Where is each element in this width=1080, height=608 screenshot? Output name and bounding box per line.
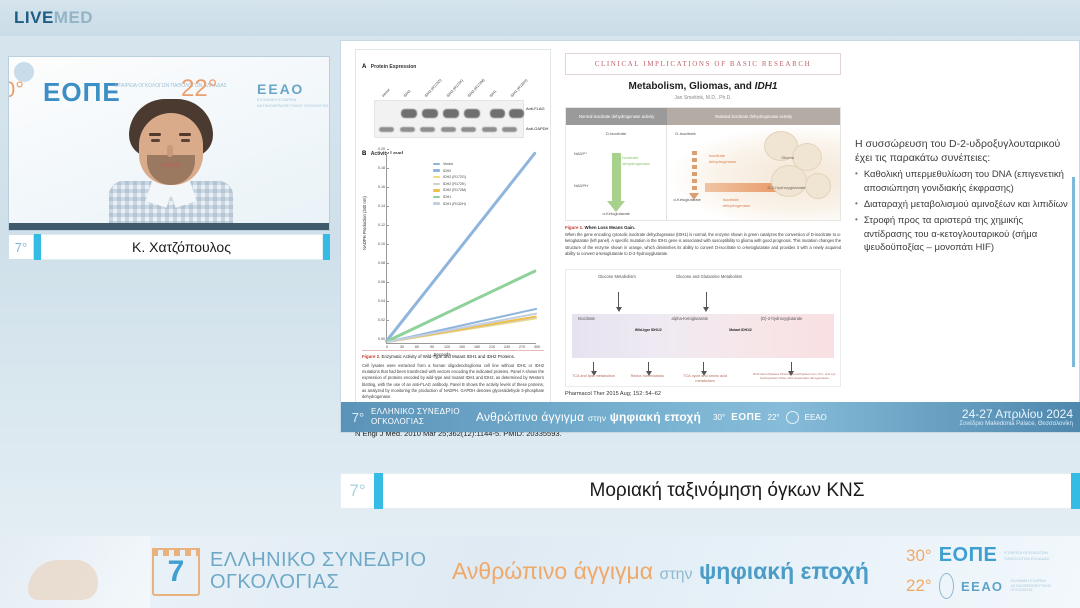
chart-x-tick: 90 [430, 343, 434, 349]
bullet-dot-icon: • [855, 168, 858, 195]
banner-eeao-row: 22° ΕΕΑΟ ΕΛΛΗΝΙΚΗ ΕΤΑΙΡΕΙΑ ΑΚΤΙΝΟΘΕΡΑΠΕΥ… [906, 573, 1066, 599]
speaker-video-panel[interactable]: 0° ΕΟΠΕ ΕΤΑΙΡΕΙΑ ΟΓΚΟΛΟΓΩΝ ΠΑΘΟΛΟΓΩΝ ΕΛΛ… [8, 56, 330, 231]
footer-deg-30: 30° [713, 413, 725, 422]
bullet-dot-icon: • [855, 214, 858, 254]
banner-photo [0, 536, 150, 608]
footer-venue: Συνέδριο Makedonia Palace, Θεσσαλονίκη [959, 421, 1073, 427]
normal-enzyme-label: Isocitrate dehydrogenase [622, 155, 666, 166]
legend-swatch [433, 169, 440, 172]
pathway-enzyme-wildtype: Wild-type IDH1/2 [635, 328, 662, 332]
chart-y-tick: 0.20 [378, 147, 387, 151]
banner-congress-logo: 7 ΕΛΛΗΝΙΚΟ ΣΥΝΕΔΡΙΟ ΟΓΚΟΛΟΓΙΑΣ [152, 548, 426, 596]
chart-legend-item: Vector [433, 162, 466, 166]
brand-live-text: LIVE [14, 8, 54, 27]
greek-bullet-item: •Καθολική υπερμεθυλίωση του DNA (επιγενε… [855, 168, 1069, 195]
pathway-bottom-tca-amino: TCA cycle and amino acid metabolism [681, 374, 729, 384]
top-bar: LIVEMED [0, 0, 1080, 36]
blot-lane-label: IDH2 (R172M) [467, 78, 485, 98]
panel-a-letter: A [362, 64, 366, 70]
nejm-article-panel: CLINICAL IMPLICATIONS OF BASIC RESEARCH … [559, 49, 847, 427]
western-blot-gapdh [374, 124, 524, 136]
figure2-caption: Figure 2. Enzymatic Activity of Wild-Typ… [362, 350, 544, 401]
greek-bullet-text: Στροφή προς τα αριστερά της χημικής αντί… [864, 214, 1069, 254]
pathway-bottom-redox: Redox homeostasis [626, 374, 668, 379]
footer-dates: 24-27 Απριλίου 2024 [959, 407, 1073, 421]
pathway-down-arrow-5-icon [703, 362, 704, 372]
banner-deg-30: 30° [906, 546, 932, 566]
brand-med-text: MED [54, 8, 93, 27]
pathway-bottom-tca-lipid: TCA and lipid metabolism [571, 374, 615, 379]
chart-y-tick: 0.06 [378, 280, 387, 284]
footer-congress-badge-icon: 7° [345, 410, 371, 425]
chart-x-tick: 270 [519, 343, 525, 349]
blot-lane-label: IDH2 (R172K) [446, 79, 464, 98]
slide-title-bar: 7° Μοριακή ταξινόμηση όγκων ΚΝΣ [340, 473, 1080, 509]
chart-y-tick: 0.04 [378, 299, 387, 303]
figure2-label: Figure 2. [362, 354, 380, 359]
chart-x-tick: 180 [474, 343, 480, 349]
speaker-eye-left [151, 139, 160, 142]
figure1-diagram: Normal isocitrate dehydrogenase activity… [565, 107, 841, 221]
chart-y-tick: 0.08 [378, 261, 387, 265]
speaker-brow-left [149, 133, 161, 136]
banner-deg-22: 22° [906, 576, 932, 596]
blot-lane-label: IDH1 [489, 89, 497, 98]
chart-x-tick: 150 [459, 343, 465, 349]
gapdh-band [441, 127, 456, 132]
banner-badge-number: 7 [168, 555, 185, 589]
banner-congress-line1: ΕΛΛΗΝΙΚΟ ΣΥΝΕΔΡΙΟ [210, 550, 426, 572]
castle-logo-icon: 7 [152, 548, 200, 596]
chart-y-tick: 0.16 [378, 185, 387, 189]
chart-x-tick: 300 [534, 343, 540, 349]
banner-eeao-logo: ΕΕΑΟ [961, 579, 1004, 594]
speaker-accent-right [323, 234, 330, 260]
chart-legend-item: IDH2 [433, 169, 466, 173]
greek-bullet-list: •Καθολική υπερμεθυλίωση του DNA (επιγενε… [855, 168, 1069, 254]
chart-x-tick: 120 [444, 343, 450, 349]
green-reaction-arrow-icon [612, 153, 621, 201]
pathway-enzyme-mutant: Mutant IDH1/2 [729, 328, 752, 332]
legend-label: Vector [443, 162, 453, 166]
normal-ketoglutarate-label: α-Ketoglutarate [602, 211, 629, 216]
footer-tagline-c: ψηφιακή εποχή [610, 410, 701, 424]
chart-legend: VectorIDH2IDH2 (R172G)IDH2 (R172K)IDH2 (… [433, 162, 466, 208]
panel-b-letter: B [362, 151, 366, 157]
blot-lane-label: IDH2 [403, 89, 411, 98]
figure1-header-normal: Normal isocitrate dehydrogenase activity [566, 108, 667, 125]
glioma-blob-3 [771, 165, 807, 197]
figure1-normal-pane: D-Isocitrate NADP⁺ NADPH Isocitrate dehy… [566, 125, 667, 220]
footer-deg-22: 22° [768, 413, 780, 422]
speaker-mouth [161, 163, 181, 167]
legend-swatch [433, 183, 440, 186]
mutated-isocitrate-label: D-Isocitrate [675, 131, 695, 136]
anti-gapdh-label: Anti-GAPDH [526, 126, 548, 131]
blot-band [464, 109, 480, 118]
bullet-dot-icon: • [855, 198, 858, 211]
glioma-blob-4 [805, 173, 831, 199]
figure1-caption: Figure 1. When Loss Means Gain. When the… [565, 225, 841, 257]
footer-date-venue: 24-27 Απριλίου 2024 Συνέδριο Makedonia P… [959, 407, 1073, 427]
figure1-caption-body: When the gene encoding cytosolic isocitr… [565, 232, 841, 257]
chart-x-tick: 0 [386, 343, 388, 349]
blot-band [490, 109, 505, 118]
legend-swatch [433, 189, 440, 192]
speaker-accent-left [34, 234, 41, 260]
backdrop-eeao-subtitle: ΕΛΛΗΝΙΚΗ ΕΤΑΙΡΕΙΑ ΑΚΤΙΝΟΘΕΡΑΠΕΥΤΙΚΗΣ ΟΓΚ… [257, 97, 329, 108]
pathway-molecule-band: Isocitrate alpha-Ketoglutarate (D)-2-hyd… [572, 314, 834, 358]
footer-congress-line2: ΟΓΚΟΛΟΓΙΑΣ [371, 417, 460, 427]
gapdh-band [482, 127, 497, 132]
activity-line-chart: VectorIDH2IDH2 (R172G)IDH2 (R172K)IDH2 (… [386, 154, 536, 344]
pathway-top-glucose-glutamine: Glucose and Glutamine Metabolism [670, 274, 748, 279]
speaker-figure [101, 99, 241, 231]
chart-x-tick: 210 [489, 343, 495, 349]
greek-lead-text: Η συσσώρευση του D-2-υδροξυγλουταρικού έ… [855, 137, 1069, 165]
gapdh-band [400, 127, 415, 132]
nejm-figure-left: A Protein Expression VectorIDH2IDH2 (R17… [355, 49, 551, 427]
banner-eeao-subtitle: ΕΛΛΗΝΙΚΗ ΕΤΑΙΡΕΙΑ ΑΚΤΙΝΟΘΕΡΑΠΕΥΤΙΚΗΣ ΟΓΚ… [1011, 579, 1067, 593]
article-title-main: Metabolism, Gliomas, and [629, 81, 755, 92]
figure1-label: Figure 1. [565, 225, 583, 230]
slide-footer-bar: 7° ΕΛΛΗΝΙΚΟ ΣΥΝΕΔΡΙΟ ΟΓΚΟΛΟΓΙΑΣ Ανθρώπιν… [341, 402, 1080, 432]
nadp-label: NADP⁺ [574, 151, 587, 156]
article-title: Metabolism, Gliomas, and IDH1 [559, 81, 847, 92]
gapdh-band [461, 127, 476, 132]
chart-series-line [386, 269, 537, 343]
normal-isocitrate-label: D-Isocitrate [606, 131, 626, 136]
pharmacol-citation: Pharmacol Ther 2015 Aug; 152: 54–62 [565, 391, 661, 397]
greek-bullet-item: •Στροφή προς τα αριστερά της χημικής αντ… [855, 214, 1069, 254]
legend-swatch [433, 202, 440, 205]
chart-x-tick: 30 [400, 343, 404, 349]
speaker-eye-right [181, 139, 190, 142]
chart-legend-item: IDH2 (R172G) [433, 175, 466, 179]
legend-label: IDH2 (R172K) [443, 182, 466, 186]
banner-congress-line2: ΟΓΚΟΛΟΓΙΑΣ [210, 572, 426, 594]
figure2-caption-title: Figure 2. Enzymatic Activity of Wild-Typ… [362, 354, 544, 361]
banner-crab-icon [939, 573, 954, 599]
speaker-name-bar: 7° Κ. Χατζόπουλος [8, 234, 330, 260]
footer-congress-name: ΕΛΛΗΝΙΚΟ ΣΥΝΕΔΡΙΟ ΟΓΚΟΛΟΓΙΑΣ [371, 407, 460, 427]
article-author: Jan Smeitink, M.D., Ph.D. [559, 95, 847, 101]
blot-lane-label: IDH1 (R132H) [510, 78, 528, 98]
chart-y-tick: 0.02 [378, 318, 387, 322]
legend-swatch [433, 163, 440, 166]
footer-eope-logo: ΕΟΠΕ [731, 412, 761, 423]
banner-tagline-c: ψηφιακή εποχή [699, 558, 869, 584]
banner-eope-row: 30° ΕΟΠΕ ΕΤΑΙΡΕΙΑ ΟΓΚΟΛΟΓΩΝ ΠΑΘΟΛΟΓΩΝ ΕΛ… [906, 544, 1066, 567]
figure1-caption-title: Figure 1. When Loss Means Gain. [565, 225, 841, 230]
article-title-gene: IDH1 [755, 81, 778, 92]
chart-y-axis-label: NADPH Production (340 nm) [362, 196, 367, 250]
hydroxyglutarate-label: D-2-Hydroxyglutarate [767, 185, 805, 190]
backdrop-eeao-logo: ΕΕΑΟ [257, 81, 304, 97]
title-congress-badge-icon: 7° [340, 473, 374, 509]
section-header-box: CLINICAL IMPLICATIONS OF BASIC RESEARCH [565, 53, 841, 75]
mutated-ketoglutarate-label: α-Ketoglutarate [673, 197, 700, 202]
speaker-nose [167, 145, 173, 157]
title-accent-left [374, 473, 383, 509]
blot-band [443, 109, 459, 118]
banner-tagline-a: Ανθρώπινο άγγιγμα [452, 558, 653, 584]
orange-dashed-arrow-icon [692, 151, 697, 193]
pathway-down-arrow-4-icon [648, 362, 649, 372]
banner-congress-name: ΕΛΛΗΝΙΚΟ ΣΥΝΕΔΡΙΟ ΟΓΚΟΛΟΓΙΑΣ [210, 550, 426, 593]
banner-tagline-b: στην [659, 566, 692, 583]
pathway-isocitrate: Isocitrate [578, 316, 595, 321]
greek-bullet-item: •Διαταραχή μεταβολισμού αμινοξέων και λι… [855, 198, 1069, 211]
greek-bullet-text: Καθολική υπερμεθυλίωση του DNA (επιγενετ… [864, 168, 1069, 195]
gapdh-band [502, 127, 517, 132]
title-accent-right [1071, 473, 1080, 509]
pathway-down-arrow-6-icon [791, 362, 792, 372]
slide-content[interactable]: A Protein Expression VectorIDH2IDH2 (R17… [340, 40, 1080, 433]
greek-bullet-text: Διαταραχή μεταβολισμού αμινοξέων και λιπ… [864, 198, 1069, 211]
anti-flag-label: Anti-FLAG [526, 106, 545, 111]
pathway-bottom-demethylases: DNA demethylases Histone demethylases As… [752, 372, 836, 380]
chart-x-tick: 240 [504, 343, 510, 349]
bottom-banner: 7 ΕΛΛΗΝΙΚΟ ΣΥΝΕΔΡΙΟ ΟΓΚΟΛΟΓΙΑΣ Ανθρώπινο… [0, 536, 1080, 608]
banner-hand-image [28, 560, 98, 600]
legend-label: IDH1 (R132H) [443, 202, 466, 206]
figure1-title-text: When Loss Means Gain. [585, 225, 636, 230]
crab-emblem-inner [14, 62, 34, 82]
slide-right-accent-bar [1072, 177, 1075, 367]
banner-eope-subtitle: ΕΤΑΙΡΕΙΑ ΟΓΚΟΛΟΓΩΝ ΠΑΘΟΛΟΓΩΝ ΕΛΛΑΔΑΣ [1004, 550, 1066, 560]
banner-eope-logo: ΕΟΠΕ [939, 544, 998, 567]
legend-label: IDH2 (R172G) [443, 175, 466, 179]
congress-badge-icon: 7° [8, 234, 34, 260]
blot-lane-label: Vector [381, 88, 391, 98]
chart-x-tick: 60 [415, 343, 419, 349]
footer-crab-icon [786, 411, 799, 424]
legend-label: IDH1 [443, 195, 451, 199]
nadph-label: NADPH [574, 183, 588, 188]
chart-legend-item: IDH1 [433, 195, 466, 199]
banner-society-logos: 30° ΕΟΠΕ ΕΤΑΙΡΕΙΑ ΟΓΚΟΛΟΓΩΝ ΠΑΘΟΛΟΓΩΝ ΕΛ… [906, 544, 1066, 605]
gapdh-band [420, 127, 435, 132]
chart-legend-item: IDH1 (R132H) [433, 202, 466, 206]
legend-swatch [433, 176, 440, 179]
footer-tagline: Ανθρώπινο άγγιγμα στην ψηφιακή εποχή [476, 410, 701, 424]
chart-y-tick: 0.14 [378, 204, 387, 208]
video-bottom-strip [9, 223, 329, 230]
blot-band [401, 109, 417, 118]
metabolic-pathway-diagram: Glucose Metabolism Glucose and Glutamine… [565, 269, 841, 387]
livemed-logo: LIVEMED [14, 8, 93, 28]
pathway-down-arrow-2-icon [706, 292, 707, 308]
mutated-enzyme-label-bottom: Isocitrate dehydrogenase [723, 197, 767, 208]
pathway-ketoglutarate: alpha-Ketoglutarate [672, 316, 709, 321]
chart-legend-item: IDH2 (R172M) [433, 188, 466, 192]
footer-tagline-b: στην [588, 413, 606, 423]
blot-band [509, 109, 524, 118]
speaker-brow-right [179, 133, 191, 136]
glioma-label: Glioma [781, 155, 794, 160]
chart-legend-item: IDH2 (R172K) [433, 182, 466, 186]
pathway-top-glucose: Glucose Metabolism [588, 274, 646, 279]
banner-tagline: Ανθρώπινο άγγιγμα στην ψηφιακή εποχή [452, 558, 869, 585]
greek-bullet-column: Η συσσώρευση του D-2-υδροξυγλουταρικού έ… [855, 137, 1069, 257]
footer-tagline-a: Ανθρώπινο άγγιγμα [476, 410, 584, 424]
figure1-header-mutated: Mutated isocitrate dehydrogenase activit… [667, 108, 840, 125]
pathway-hydroxyglutarate: (D)-2-hydroxyglutarate [761, 316, 803, 321]
chart-y-tick: 0.18 [378, 166, 387, 170]
legend-label: IDH2 (R172M) [443, 188, 466, 192]
pathway-down-arrow-3-icon [593, 362, 594, 372]
blot-lane-labels: VectorIDH2IDH2 (R172G)IDH2 (R172K)IDH2 (… [380, 64, 530, 98]
chart-y-tick: 0.12 [378, 223, 387, 227]
legend-label: IDH2 [443, 169, 451, 173]
footer-logos: 30° ΕΟΠΕ 22° ΕΕΑΟ [713, 411, 827, 424]
footer-congress-line1: ΕΛΛΗΝΙΚΟ ΣΥΝΕΔΡΙΟ [371, 407, 460, 417]
slide-title-text: Μοριακή ταξινόμηση όγκων ΚΝΣ [383, 473, 1071, 509]
blot-band [422, 109, 438, 118]
speaker-name-text: Κ. Χατζόπουλος [41, 234, 323, 260]
chart-y-tick: 0.10 [378, 242, 387, 246]
gapdh-band [379, 127, 394, 132]
figure2-caption-body: Cell lysates were extracted from a human… [362, 363, 544, 401]
legend-swatch [433, 196, 440, 199]
figure1-mutated-pane: D-Isocitrate Isocitrate dehydrogenase α-… [667, 125, 840, 220]
section-header-text: CLINICAL IMPLICATIONS OF BASIC RESEARCH [595, 60, 812, 68]
figure2-title-text: Enzymatic Activity of Wild-Type and Muta… [382, 354, 515, 359]
pathway-down-arrow-1-icon [618, 292, 619, 308]
mutated-enzyme-label-top: Isocitrate dehydrogenase [709, 153, 751, 164]
footer-eeao-logo: ΕΕΑΟ [805, 413, 827, 422]
blot-lane-label: IDH2 (R172G) [424, 78, 442, 98]
